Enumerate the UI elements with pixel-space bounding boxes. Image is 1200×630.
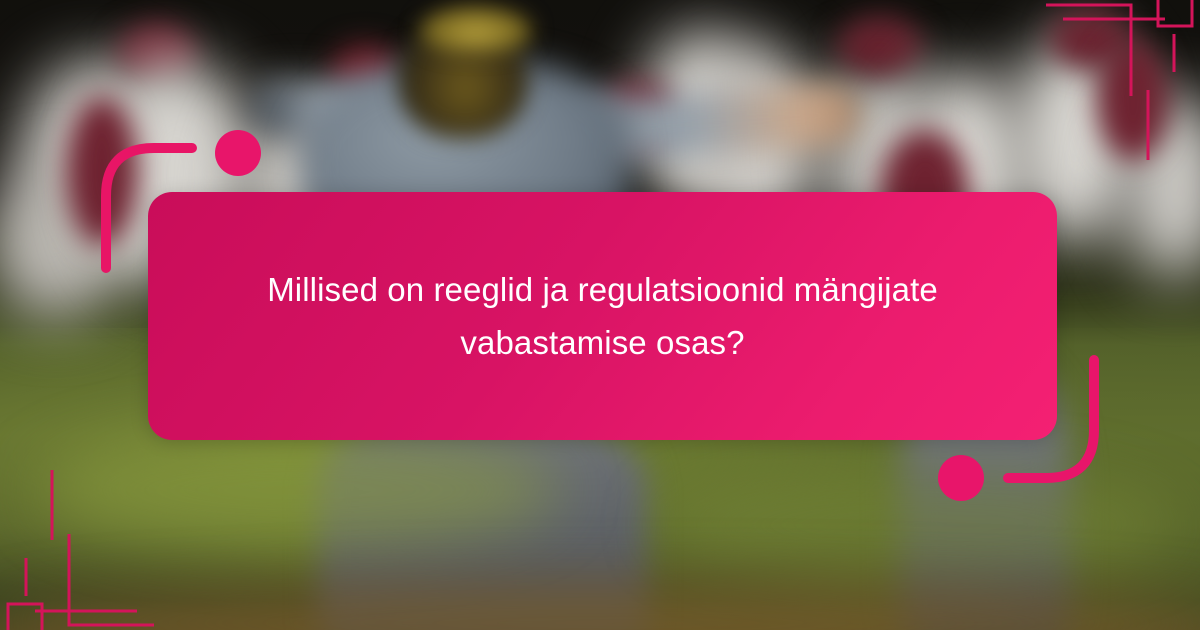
grass-highlight	[660, 470, 1180, 580]
share-card-canvas: Millised on reeglid ja regulatsioonid mä…	[0, 0, 1200, 630]
question-card: Millised on reeglid ja regulatsioonid mä…	[148, 192, 1057, 440]
umpire-cap	[420, 6, 532, 52]
question-text: Millised on reeglid ja regulatsioonid mä…	[225, 263, 981, 370]
grass-highlight	[40, 430, 560, 550]
player-sleeve-blob	[66, 96, 138, 246]
player-cap-blob	[838, 16, 922, 76]
player-sleeve-blob	[1098, 40, 1168, 160]
